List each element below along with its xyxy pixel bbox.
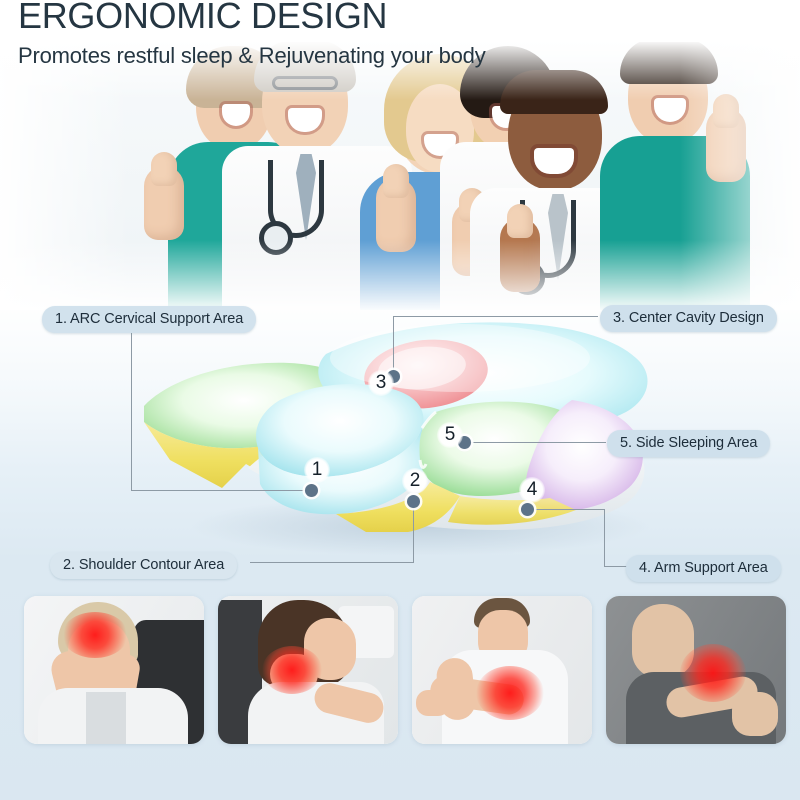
page-title: ERGONOMIC DESIGN [18, 0, 800, 34]
leader-line-2-horizontal [250, 562, 414, 563]
marker-number-2: 2 [402, 468, 428, 494]
callout-label-3[interactable]: 3. Center Cavity Design [600, 305, 777, 332]
marker-number-1: 1 [304, 457, 330, 483]
marker-number-5: 5 [437, 422, 463, 448]
marker-number-3: 3 [368, 370, 394, 396]
callout-label-2[interactable]: 2. Shoulder Contour Area [50, 552, 237, 579]
medical-team-illustration [0, 42, 800, 310]
leader-line-4-horizontal [528, 509, 605, 510]
leader-line-3-vertical [393, 316, 394, 378]
pain-highlight [262, 646, 322, 694]
callout-label-1[interactable]: 1. ARC Cervical Support Area [42, 306, 256, 333]
header: ERGONOMIC DESIGN Promotes restful sleep … [0, 0, 800, 69]
pain-highlight [476, 666, 544, 720]
marker-number-4: 4 [519, 477, 545, 503]
leader-line-5-horizontal [464, 442, 606, 443]
symptom-card-arm-numbness[interactable]: Arm Numbness [412, 596, 592, 744]
leader-line-1-horizontal [131, 490, 311, 491]
pain-highlight [62, 612, 128, 658]
man-holding-arm-photo [412, 596, 592, 744]
leader-line-3-horizontal [393, 316, 598, 317]
symptom-card-headache[interactable]: Headache [24, 596, 204, 744]
man-holding-shoulder-photo [606, 596, 786, 744]
leader-line-4-vertical [604, 509, 605, 566]
marker-dot-1 [305, 484, 318, 497]
symptom-card-neck-pain[interactable]: Neck Pain [218, 596, 398, 744]
symptom-card-stiff-shoulders[interactable]: Stiff Shoulders [606, 596, 786, 744]
pain-highlight [680, 644, 746, 702]
callout-label-5[interactable]: 5. Side Sleeping Area [607, 430, 770, 457]
woman-holding-head-photo [24, 596, 204, 744]
page-subtitle: Promotes restful sleep & Rejuvenating yo… [18, 43, 800, 69]
leader-line-4-horizontal-2 [604, 566, 628, 567]
leader-line-1-vertical [131, 332, 132, 490]
marker-dot-4 [521, 503, 534, 516]
leader-line-2-vertical [413, 500, 414, 562]
marker-dot-2 [407, 495, 420, 508]
medical-team-photo [0, 42, 800, 310]
callout-label-4[interactable]: 4. Arm Support Area [626, 555, 781, 582]
infographic-page: ERGONOMIC DESIGN Promotes restful sleep … [0, 0, 800, 800]
symptom-cards: Headache Neck Pain [0, 596, 800, 800]
woman-holding-neck-photo [218, 596, 398, 744]
